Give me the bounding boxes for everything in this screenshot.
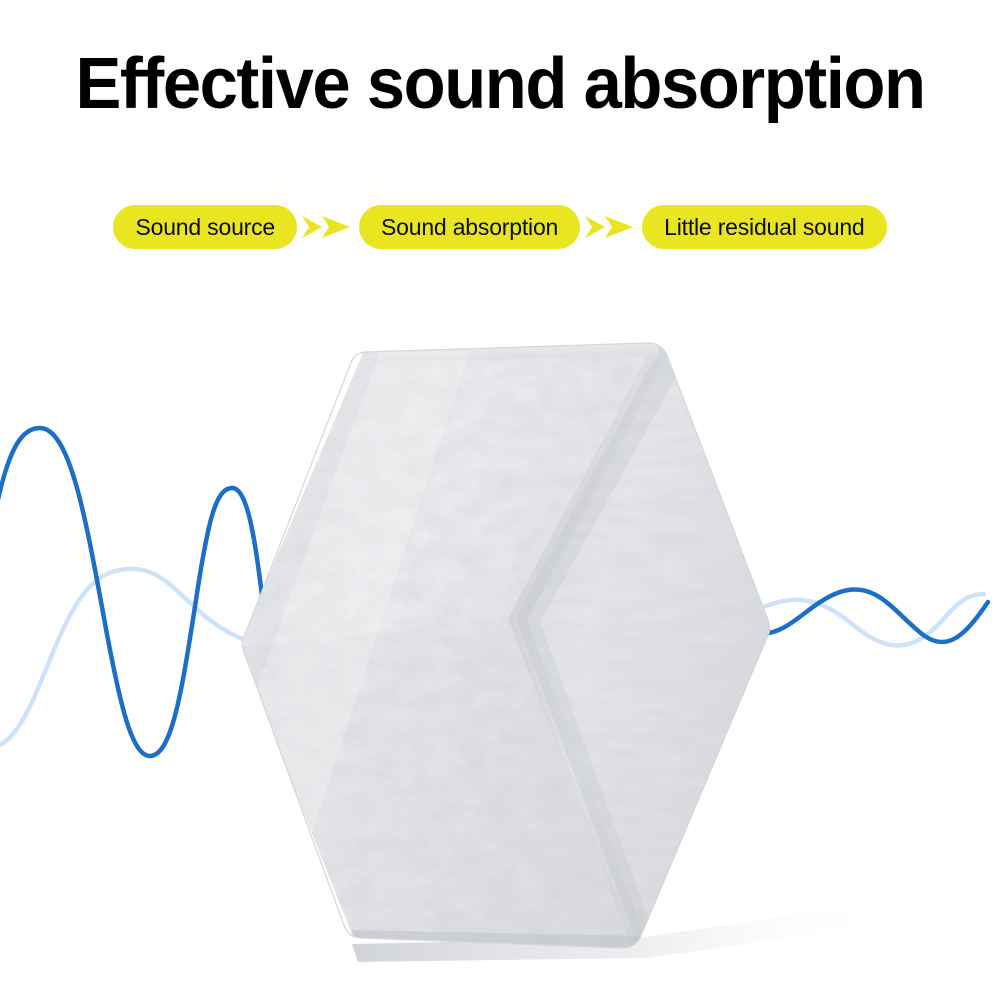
product-feature-banner: Effective sound absorption: [0, 0, 1000, 1000]
flow-step-label: Little residual sound: [664, 214, 864, 241]
double-chevron-right-icon: [580, 205, 642, 249]
flow-step-badge-sound-source[interactable]: Sound source: [113, 205, 297, 249]
flow-step-label: Sound absorption: [381, 214, 558, 241]
acoustic-panel: [0, 0, 1000, 1000]
sound-flow-steps: Sound source Sound absorption Little res…: [0, 203, 1000, 251]
flow-step-badge-little-residual-sound[interactable]: Little residual sound: [642, 205, 886, 249]
flow-step-badge-sound-absorption[interactable]: Sound absorption: [359, 205, 580, 249]
double-chevron-right-icon: [297, 205, 359, 249]
flow-step-label: Sound source: [135, 214, 275, 241]
